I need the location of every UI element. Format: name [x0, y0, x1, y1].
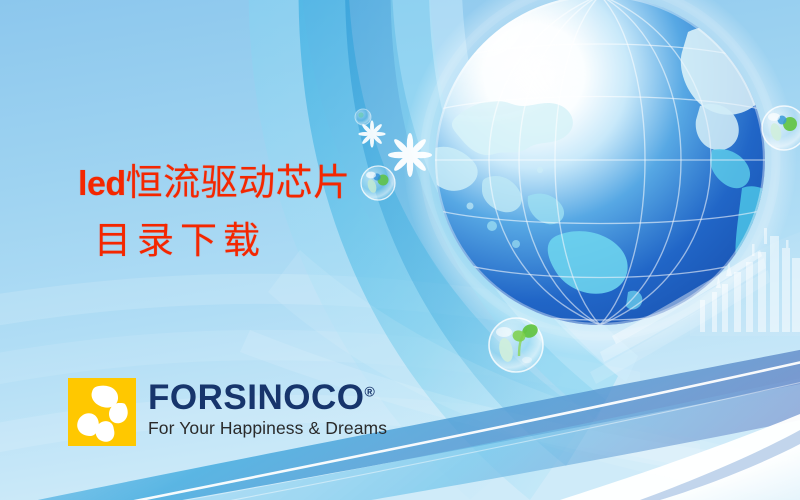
corner-wedge [560, 414, 800, 500]
headline-line-1: led恒流驱动芯片 [78, 162, 418, 206]
headline-text: led恒流驱动芯片 目录下载 [78, 162, 418, 263]
earth-globe [390, 0, 796, 356]
brand-logo: FORSINOCO® For Your Happiness & Dreams [68, 378, 387, 446]
city-skyline-silhouette [700, 228, 800, 332]
logo-tagline: For Your Happiness & Dreams [148, 418, 387, 439]
logo-wordmark: FORSINOCO® [148, 380, 387, 415]
headline-cjk: 恒流驱动芯片 [126, 163, 351, 204]
registered-trademark-icon: ® [364, 383, 374, 399]
headline-latin: led [78, 165, 126, 203]
banner-canvas: led恒流驱动芯片 目录下载 FORSINOCO® For Your Happi… [0, 0, 800, 500]
flower-sparkle [358, 120, 385, 147]
bubble-top-small [355, 109, 371, 125]
logo-wordmark-text: FORSINOCO [148, 378, 364, 417]
headline-line-2: 目录下载 [94, 220, 418, 264]
bubble-sprout-large [489, 318, 543, 372]
forsinoco-pinwheel-flower-icon [68, 378, 136, 446]
logo-text-block: FORSINOCO® For Your Happiness & Dreams [148, 380, 387, 439]
bubble-edge-right [762, 106, 800, 150]
